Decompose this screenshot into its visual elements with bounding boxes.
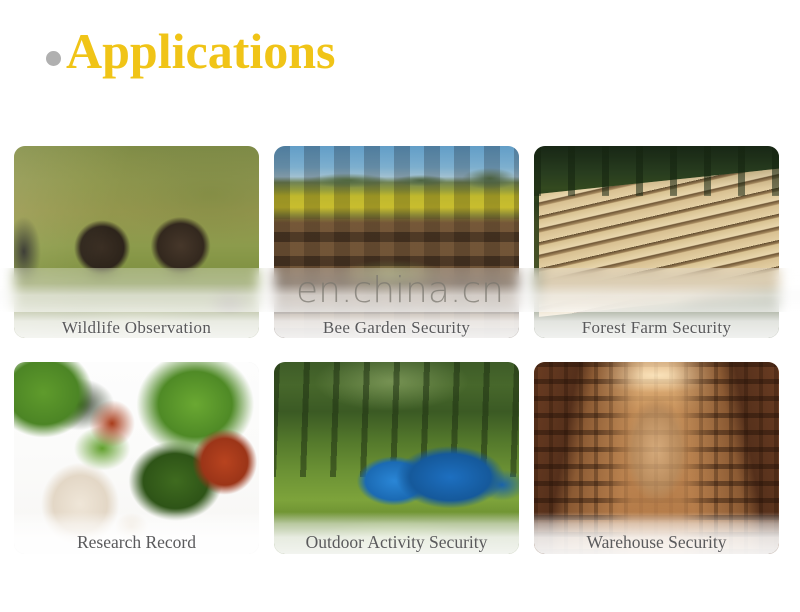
gallery-tile-outdoor-activity-security[interactable] <box>274 362 519 554</box>
photo-outdoor-activity-security <box>274 362 519 554</box>
photo-forest-farm-security <box>534 146 779 338</box>
title-row: Applications <box>46 26 336 76</box>
gallery-tile-caption: Wildlife Observation <box>14 318 259 338</box>
gallery-tile-forest-farm-security[interactable]: Forest Farm Security <box>534 146 779 338</box>
photo-bee-garden-security <box>274 146 519 338</box>
gallery-tile-caption: Bee Garden Security <box>274 318 519 338</box>
photo-wildlife-observation <box>14 146 259 338</box>
gallery-tile-warehouse-security[interactable] <box>534 362 779 554</box>
page-header: Applications <box>0 0 800 128</box>
gallery-tile-bee-garden-security[interactable]: Bee Garden Security <box>274 146 519 338</box>
page-title: Applications <box>66 26 336 76</box>
gallery-tile-research-record[interactable] <box>14 362 259 554</box>
bullet-dot-icon <box>46 51 61 66</box>
photo-warehouse-security <box>534 362 779 554</box>
applications-gallery: Wildlife Observation Bee Garden Security… <box>14 146 786 556</box>
photo-research-record <box>14 362 259 554</box>
gallery-tile-wildlife-observation[interactable]: Wildlife Observation <box>14 146 259 338</box>
gallery-tile-caption: Forest Farm Security <box>534 318 779 338</box>
